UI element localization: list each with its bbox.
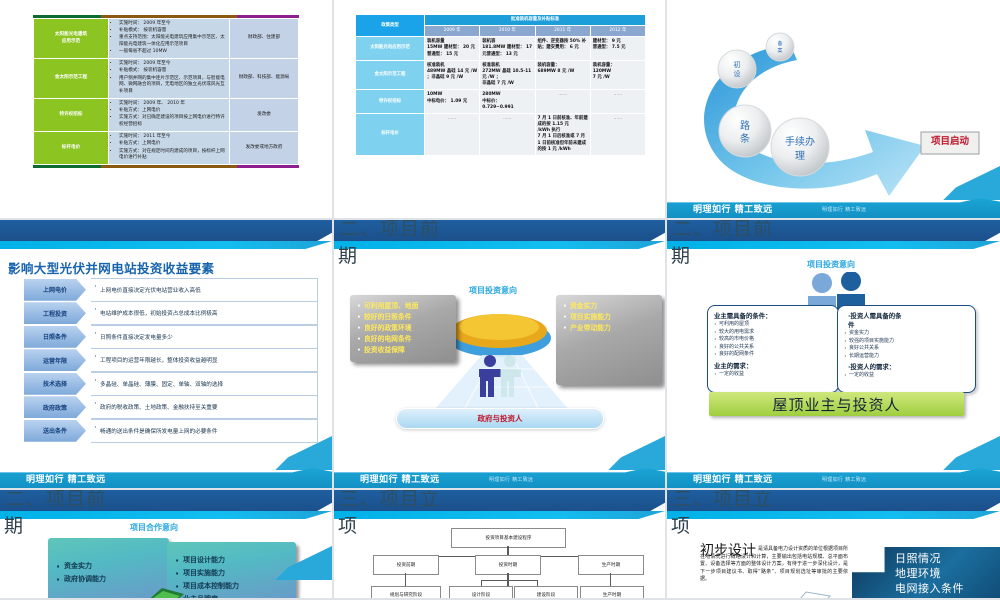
owner-conditions-box: 业主需具备的条件： 可利用的屋顶 较大的用电需求 较高的市电价格 良好的公共关系… xyxy=(707,305,839,393)
list-item: 实施时间： 2009 年、 2010 年 xyxy=(119,101,226,108)
slide-header-band xyxy=(667,241,1000,249)
list-item[interactable]: 工程投资 电站维护成本很低，初始投资占总成本比例极高 xyxy=(24,302,318,326)
slide-7-cooperation-intent[interactable]: 二、项目前 期 项目合作意向 资金实力 政府协调能力 项目设计能力 项目实施能力… xyxy=(0,490,334,600)
section-title-line2: 项 xyxy=(671,516,690,536)
list-item: 良好的政策环境 xyxy=(357,323,449,334)
list-item: 长期运营能力 xyxy=(844,353,969,361)
sphere-lutiao: 路 条 xyxy=(719,105,771,157)
policy-detail: 实施时间： 2009 年至今 补贴模式： 按装机容量 用户侧并网的集中连片示范区… xyxy=(109,59,230,99)
conditions-plaque-left: 可利用屋顶、地面 较好的日照条件 良好的政策环境 良好的电网条件 投资收益保障 xyxy=(350,295,456,362)
cell: …… xyxy=(425,113,480,155)
slide-header-band xyxy=(334,241,665,249)
col-year-2011: 2011 年 xyxy=(535,26,590,37)
section-title-line1: 三、项目立 xyxy=(673,490,773,509)
list-item: 良好的电网条件 xyxy=(357,334,449,345)
cell: 核准装机272MW 晶硅 10.5-11 元 /W ；非晶硅 7 元 /W xyxy=(480,60,535,90)
chart-node-level3[interactable]: 建设阶段 xyxy=(514,586,578,600)
page-title: 影响大型光伏并网电站投资收益要素 xyxy=(8,258,214,277)
cell: …… xyxy=(590,113,645,155)
slide-header-band xyxy=(0,511,332,519)
slide-4-investment-factors[interactable]: 影响大型光伏并网电站投资收益要素 上网电价 上网电价直接决定光伏电站营业收入高低… xyxy=(0,220,334,490)
policy-name: 特许权招标 xyxy=(34,99,109,132)
section-title-line1: 二、项目前 xyxy=(340,220,440,239)
factor-tag: 上网电价 xyxy=(24,279,86,301)
policy-dept: 财政部、科技部、能源局 xyxy=(230,59,299,99)
list-item: 良好的公共关系 xyxy=(714,344,832,352)
col-year-2009: 2009 年 xyxy=(425,26,480,37)
list-item: 可利用屋顶、地面 xyxy=(357,301,449,312)
list-item: 实施方式：对在规定时间内建成的项目，按标杆上网电价进行补贴 xyxy=(119,149,226,162)
chart-node-level3[interactable]: 规划与研究阶段 xyxy=(371,586,441,600)
factor-text: 电站维护成本很低，初始投资占总成本比例极高 xyxy=(91,301,318,325)
factor-text: 政府的税收政策、土地政策、金融扶持至关重要 xyxy=(91,395,318,419)
list-item: 实施方式：对已确定建设的项目按上网电价进行特许权经营招标 xyxy=(119,115,226,128)
list-item: 良好的配网条件 xyxy=(714,351,832,359)
list-item: 可利用的屋顶 xyxy=(714,321,832,329)
cell: …… xyxy=(590,90,645,113)
section-title-line1: 二、项目前 xyxy=(673,220,773,239)
list-item: 重点支持范围：太阳能光电建筑应用集中示范区、太阳能光电建筑一体化应用示范项目 xyxy=(119,35,226,48)
policy-detail: 实施时间： 2009 年、 2010 年 补贴方式：上网电价 实施方式：对已确定… xyxy=(109,99,230,132)
section-title-line1: 二、项目前 xyxy=(6,490,106,509)
list-item[interactable]: 日照条件 日照条件直接决定发电量多少 xyxy=(24,325,318,349)
factor-tag: 运营年限 xyxy=(24,349,86,371)
table-row: 金太阳示范工程 实施时间： 2009 年至今 补贴模式： 按装机容量 用户侧并网… xyxy=(34,59,299,99)
factor-text: 畅通的送出条件是确保所发电量上网的必要条件 xyxy=(91,419,318,443)
section-title-line2: 期 xyxy=(4,516,23,536)
table-row: 特许权招标 实施时间： 2009 年、 2010 年 补贴方式：上网电价 实施方… xyxy=(34,99,299,132)
owner-title: 业主需具备的条件： xyxy=(714,311,832,320)
list-item: 较大的用电需求 xyxy=(714,329,832,337)
list-item: 日照情况 xyxy=(895,552,964,567)
slide-header-band xyxy=(334,511,665,519)
owner-need-title: 业主的需求： xyxy=(714,361,832,370)
svg-text:理: 理 xyxy=(795,150,805,162)
row-label: 标杆电价 xyxy=(356,113,425,155)
chart-node-level3[interactable]: 设计阶段 xyxy=(449,586,513,600)
svg-text:初: 初 xyxy=(734,60,741,69)
corner-accent xyxy=(595,436,665,470)
policy-table-wrap: 太阳能光电建筑应用示范 实施时间： 2009 年至今 补贴模式： 按装机容量 重… xyxy=(33,15,299,168)
sphere-shouxubanli: 手续办 理 xyxy=(771,118,829,176)
footer-slogan-small: 明理如行 精工致远 xyxy=(489,476,533,483)
slide-thumbnail-grid: 太阳能光电建筑应用示范 实施时间： 2009 年至今 补贴模式： 按装机容量 重… xyxy=(0,0,1000,600)
col-policy-type: 政策类型 xyxy=(356,15,425,37)
cell: …… xyxy=(480,113,535,155)
cell: 组件、逆变器按 50% 补贴；建安费用： 6 元 xyxy=(535,37,590,60)
list-item[interactable]: 技术选择 多晶硅、单晶硅、薄膜、固定、单轴、双轴的选择 xyxy=(24,372,318,396)
factor-tag: 日照条件 xyxy=(24,326,86,348)
col-year-2010: 2010 年 xyxy=(480,26,535,37)
table-top-rule xyxy=(33,15,299,18)
government-investor-pill: 政府与投资人 xyxy=(396,408,604,429)
svg-text:案: 案 xyxy=(777,47,782,54)
policy-detail: 实施时间： 2011 年至今 补贴方式：上网电价 实施方式：对在规定时间内建成的… xyxy=(109,132,230,165)
footer-slogan: 明理如行 精工致远 xyxy=(26,472,106,485)
section-title-line1: 三、项目立 xyxy=(340,490,440,509)
footer-slogan: 明理如行 精工致远 xyxy=(693,202,773,215)
policy-dept: 发改委或地方政府 xyxy=(230,132,299,165)
section-title-line2: 项 xyxy=(338,516,357,536)
svg-text:备: 备 xyxy=(777,40,782,47)
design-body: 是请具备电力设计资质的单位根据项目所在地情况进行概略设计和计算，主要输出包括电站… xyxy=(700,546,848,584)
list-item: 良好公共关系 xyxy=(844,345,969,353)
policy-name: 金太阳示范工程 xyxy=(34,59,109,99)
list-item: 一定的收益 xyxy=(844,372,969,380)
list-item: 较好的日照条件 xyxy=(357,312,449,323)
list-item: 实施时间： 2011 年至今 xyxy=(119,134,226,141)
svg-text:手续办: 手续办 xyxy=(785,135,815,148)
cell: 10MW中标电价： 1.09 元 xyxy=(425,90,480,113)
list-item: 资金实力 xyxy=(844,330,969,338)
list-item: 地理环境 xyxy=(895,567,964,582)
list-item[interactable]: 政府政策 政府的税收政策、土地政策、金融扶持至关重要 xyxy=(24,396,318,420)
owner-investor-banner: 屋顶业主与投资人 xyxy=(709,392,964,416)
table-row: 金太阳示范工程 核准装机489MW 晶硅 14 元 /W ；非晶硅 9 元 /W… xyxy=(356,60,646,90)
pointer-outline-icon xyxy=(792,590,832,600)
slide-3-process-spheres[interactable]: 备 案 初 设 路 条 手续办 理 项目启动 明理如行 精工致远 xyxy=(667,0,1000,220)
slide-6-owner-investor[interactable]: 二、项目前 期 项目投资意向 业主需具备的条件： 可利用的屋顶 较大的用电需求 … xyxy=(667,220,1000,490)
table-row: 太阳能光电建筑应用示范 实施时间： 2009 年至今 补贴模式： 按装机容量 重… xyxy=(34,19,299,59)
list-item: 政府协调能力 xyxy=(56,573,161,586)
policy-dept: 发改委 xyxy=(230,99,299,132)
golden-plate-icon xyxy=(444,298,554,360)
subsidy-table-wrap: 政策类型 批准装机容量及补贴标准 2009 年 2010 年 2011 年 20… xyxy=(355,14,646,156)
list-item: 一定的收益 xyxy=(714,371,832,379)
policy-name: 太阳能光电建筑应用示范 xyxy=(34,19,109,59)
factor-tag: 技术选择 xyxy=(24,373,86,395)
section-title-line2: 期 xyxy=(671,246,690,266)
handshake-badge-icon xyxy=(142,586,188,600)
chart-node-level2[interactable]: 投资时期 xyxy=(475,555,541,575)
table-row: 特许权招标 10MW中标电价： 1.09 元 280MW中标价：0.729~0.… xyxy=(356,90,646,113)
slide-header-band xyxy=(667,511,1000,519)
sphere-beian: 备 案 xyxy=(766,33,794,61)
connector-line xyxy=(481,580,538,581)
factor-list: 上网电价 上网电价直接决定光伏电站营业收入高低 工程投资 电站维护成本很低，初始… xyxy=(24,278,318,443)
chart-node-level3[interactable]: 生产时期 xyxy=(580,586,644,600)
list-item: 资金实力 xyxy=(563,301,655,312)
cell: 装机容量：689MW 8 元 /W xyxy=(535,60,590,90)
list-item: 补贴方式：上网电价 xyxy=(119,108,226,115)
col-capacity-subsidy: 批准装机容量及补贴标准 xyxy=(425,15,646,26)
chart-node-root[interactable]: 投资项目基本建设程序 xyxy=(451,528,566,548)
list-item: 电网接入条件 xyxy=(895,582,964,597)
policy-detail: 实施时间： 2009 年至今 补贴模式： 按装机容量 重点支持范围：太阳能光电建… xyxy=(109,19,230,59)
list-item: 补贴方式：上网电价 xyxy=(119,141,226,148)
table-row: 标杆电价 实施时间： 2011 年至今 补贴方式：上网电价 实施方式：对在规定时… xyxy=(34,132,299,165)
table-row: 标杆电价 …… …… 7 月 1 日前核准、年前建成的按 1.15 元/kWh … xyxy=(356,113,646,155)
list-item: 实施时间： 2009 年至今 xyxy=(119,61,226,68)
list-item: 业主品牌度 xyxy=(175,593,288,600)
list-item: 补贴模式： 按装机容量 xyxy=(119,28,226,35)
slide-1-policy-table[interactable]: 太阳能光电建筑应用示范 实施时间： 2009 年至今 补贴模式： 按装机容量 重… xyxy=(0,0,334,220)
cell: 建材型： 9 元普通型： 7.5 元 xyxy=(590,37,645,60)
condition-list: 日照情况 地理环境 电网接入条件 xyxy=(895,552,964,597)
table-bottom-rule xyxy=(33,165,299,168)
factor-text: 日照条件直接决定发电量多少 xyxy=(91,325,318,349)
slide-9-preliminary-design[interactable]: 三、项目立 项 初步设计 是请具备电力设计资质的单位根据项目所在地情况进行概略设… xyxy=(667,490,1000,600)
list-item: 一般每省不超过 10MW xyxy=(119,49,226,56)
connector-line xyxy=(405,573,406,587)
diagram-caption: 项目合作意向 xyxy=(130,522,178,533)
connector-line xyxy=(507,573,509,587)
list-item: 项目实施能力 xyxy=(563,312,655,323)
chart-node-level2[interactable]: 生产时期 xyxy=(578,555,644,575)
list-item[interactable]: 送出条件 畅通的送出条件是确保所发电量上网的必要条件 xyxy=(24,419,318,443)
list-item: 项目成本控制能力 xyxy=(175,580,288,593)
policy-name: 标杆电价 xyxy=(34,132,109,165)
svg-text:条: 条 xyxy=(740,132,750,145)
list-item: 较强的项目实施能力 xyxy=(844,338,969,346)
cell: 装机容量15MW 建材型： 20 元普通型： 15 元 xyxy=(425,37,480,60)
corner-accent xyxy=(930,436,1000,470)
cell: 核准装机489MW 晶硅 14 元 /W ；非晶硅 9 元 /W xyxy=(425,60,480,90)
table-row: 太阳能光电应用示范 装机容量15MW 建材型： 20 元普通型： 15 元 装机… xyxy=(356,37,646,60)
svg-text:路: 路 xyxy=(740,119,750,132)
list-item: 补贴模式： 按装机容量 xyxy=(119,68,226,75)
swoosh-arrow-diagram: 备 案 初 设 路 条 手续办 理 xyxy=(667,14,1000,200)
list-item: 资金实力 xyxy=(56,560,161,573)
footer-slogan: 明理如行 精工致远 xyxy=(693,472,773,485)
cell: 装机容181.8MW 建材型： 17 元普通型： 13 元 xyxy=(480,37,535,60)
cell: …… xyxy=(535,90,590,113)
subsidy-table: 政策类型 批准装机容量及补贴标准 2009 年 2010 年 2011 年 20… xyxy=(355,14,646,156)
list-item: 较高的市电价格 xyxy=(714,336,832,344)
col-year-2012: 2012 年 xyxy=(590,26,645,37)
list-item: 实施时间： 2009 年至今 xyxy=(119,21,226,28)
list-item[interactable]: 运营年限 工程项目的运营年限越长，整体投资收益越明显 xyxy=(24,349,318,373)
row-label: 特许权招标 xyxy=(356,90,425,113)
investor-title: ·投资人需具备的条件 xyxy=(844,311,969,329)
factor-tag: 送出条件 xyxy=(24,420,86,442)
slide-5-investment-intent[interactable]: 二、项目前 期 项目投资意向 可利用屋顶、地面 较好的日照条件 良好的政策环境 … xyxy=(334,220,667,490)
cell: 7 月 1 日前核准、年前建成的按 1.15 元/kWh 执行7 月 1 日后核… xyxy=(535,113,590,155)
factor-tag: 政府政策 xyxy=(24,396,86,418)
diagram-caption: 项目投资意向 xyxy=(807,259,855,270)
slide-header-band xyxy=(0,241,332,249)
row-label: 太阳能光电应用示范 xyxy=(356,37,425,60)
footer-slogan-small: 明理如行 精工致远 xyxy=(822,206,866,213)
slide-header-bar xyxy=(0,220,332,242)
policy-dept: 财政部、住建部 xyxy=(230,19,299,59)
svg-text:设: 设 xyxy=(734,69,741,78)
connector-line xyxy=(610,573,611,587)
row-label: 金太阳示范工程 xyxy=(356,60,425,90)
policy-table: 太阳能光电建筑应用示范 实施时间： 2009 年至今 补贴模式： 按装机容量 重… xyxy=(33,18,299,165)
project-launch-label: 项目启动 xyxy=(923,133,977,147)
table-header-row: 政策类型 批准装机容量及补贴标准 xyxy=(356,15,646,26)
footer-slogan-small: 明理如行 精工致远 xyxy=(822,476,866,483)
sphere-chushe: 初 设 xyxy=(718,50,756,88)
list-item: 产业带动能力 xyxy=(563,323,655,334)
factor-tag: 工程投资 xyxy=(24,302,86,324)
diagram-caption: 项目投资意向 xyxy=(469,285,517,296)
section-title-line2: 期 xyxy=(338,246,357,266)
cell: 装机容量：120MW7 元 /W xyxy=(590,60,645,90)
slide-8-org-chart[interactable]: 三、项目立 项 投资项目基本建设程序 投资前期 投资时期 生产时期 规划与研究阶… xyxy=(334,490,667,600)
investor-conditions-box: ·投资人需具备的条件 资金实力 较强的项目实施能力 良好公共关系 长期运营能力 … xyxy=(837,305,976,393)
slide-2-subsidy-matrix[interactable]: 政策类型 批准装机容量及补贴标准 2009 年 2010 年 2011 年 20… xyxy=(334,0,667,220)
footer-slogan: 明理如行 精工致远 xyxy=(360,472,440,485)
chart-node-level2[interactable]: 投资前期 xyxy=(373,555,439,575)
cell: 280MW中标价：0.729~0.991 xyxy=(480,90,535,113)
list-item: 项目设计能力 xyxy=(175,554,288,567)
conditions-plaque-right: 资金实力 项目实施能力 产业带动能力 xyxy=(556,295,662,385)
factor-text: 上网电价直接决定光伏电站营业收入高低 xyxy=(91,278,318,302)
investor-need-title: ·投资人的需求： xyxy=(844,362,969,371)
list-item: 用户侧并网的集中连片示范区、示范项目，与智能电网、微网融合的项目，无电地区的独立… xyxy=(119,76,226,96)
factor-text: 工程项目的运营年限越长，整体投资收益越明显 xyxy=(91,348,318,372)
list-item[interactable]: 上网电价 上网电价直接决定光伏电站营业收入高低 xyxy=(24,278,318,302)
factor-text: 多晶硅、单晶硅、薄膜、固定、单轴、双轴的选择 xyxy=(91,372,318,396)
